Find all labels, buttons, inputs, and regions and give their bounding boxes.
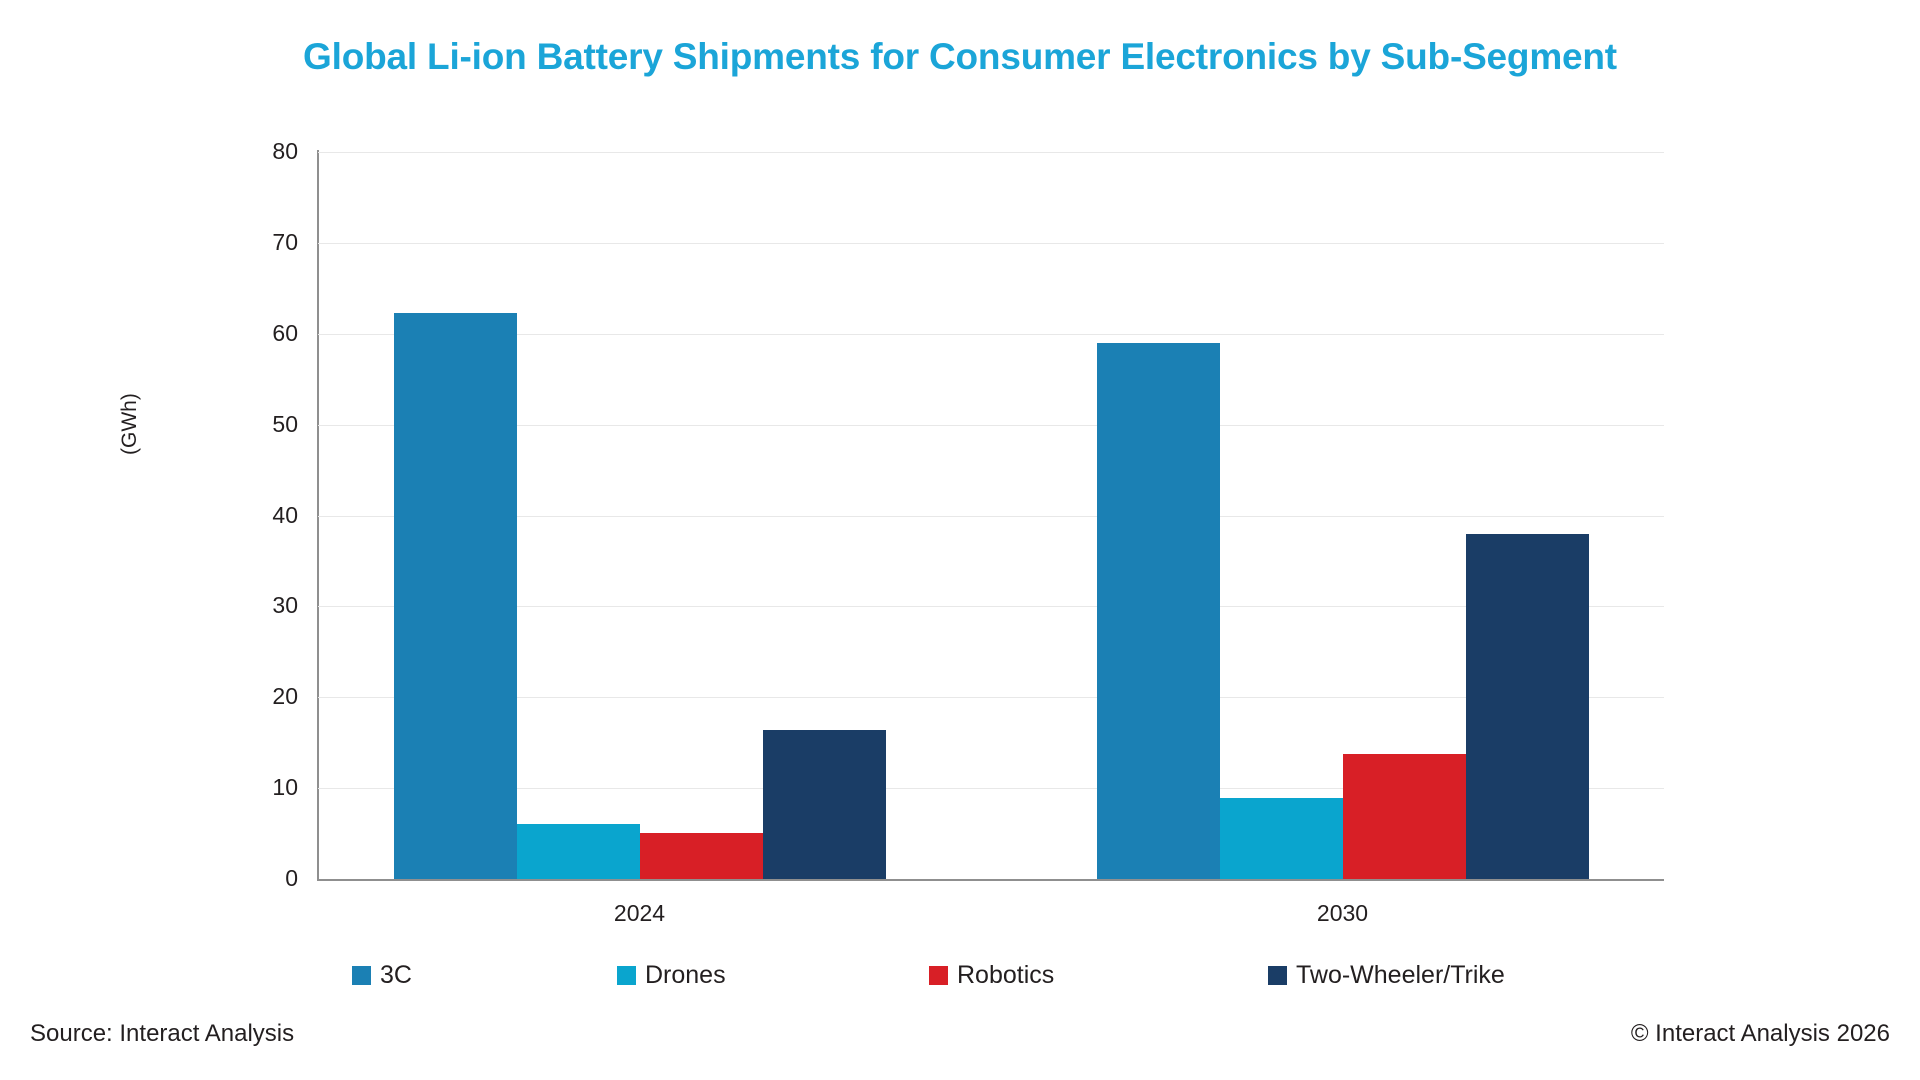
- y-axis-tick-label: 80: [238, 140, 298, 163]
- source-note: Source: Interact Analysis: [30, 1020, 294, 1048]
- legend-item-robotics[interactable]: Robotics: [929, 963, 1054, 988]
- legend-item-3c[interactable]: 3C: [352, 963, 412, 988]
- legend-item-label: Robotics: [957, 963, 1054, 988]
- chart-canvas: (GWh) 01020304050607080 20242030: [0, 0, 1920, 1080]
- bar-drones-2024: [517, 824, 640, 879]
- y-axis-title: (GWh): [118, 393, 142, 455]
- legend-swatch-icon: [352, 966, 371, 985]
- y-axis-tick-label: 40: [238, 504, 298, 527]
- bar-3c-2030: [1097, 343, 1220, 879]
- y-axis-tick-label: 0: [238, 867, 298, 890]
- legend-swatch-icon: [1268, 966, 1287, 985]
- legend-swatch-icon: [929, 966, 948, 985]
- copyright-note: © Interact Analysis 2026: [1631, 1020, 1890, 1048]
- bar-robotics-2024: [640, 833, 763, 879]
- y-axis-tick-label: 60: [238, 322, 298, 345]
- legend-item-label: 3C: [380, 963, 412, 988]
- bar-two-wheeler-trike-2024: [763, 730, 886, 879]
- legend-item-drones[interactable]: Drones: [617, 963, 726, 988]
- y-axis-tick-label: 50: [238, 413, 298, 436]
- legend-swatch-icon: [617, 966, 636, 985]
- bar-robotics-2030: [1343, 754, 1466, 879]
- y-axis-tick-label: 20: [238, 685, 298, 708]
- plot-area: [318, 152, 1664, 879]
- x-axis-category-label: 2024: [540, 900, 740, 927]
- x-axis-category-label: 2030: [1243, 900, 1443, 927]
- legend-item-two-wheeler-trike[interactable]: Two-Wheeler/Trike: [1268, 963, 1505, 988]
- legend-item-label: Two-Wheeler/Trike: [1296, 963, 1505, 988]
- y-axis-tick-label: 10: [238, 776, 298, 799]
- legend-item-label: Drones: [645, 963, 726, 988]
- y-axis-tick-label: 70: [238, 231, 298, 254]
- chart-legend: 3CDronesRoboticsTwo-Wheeler/Trike: [352, 963, 1582, 997]
- x-axis-line: [318, 879, 1664, 881]
- bar-drones-2030: [1220, 798, 1343, 879]
- bar-two-wheeler-trike-2030: [1466, 534, 1589, 879]
- y-axis-tick-label: 30: [238, 594, 298, 617]
- bar-3c-2024: [394, 313, 517, 879]
